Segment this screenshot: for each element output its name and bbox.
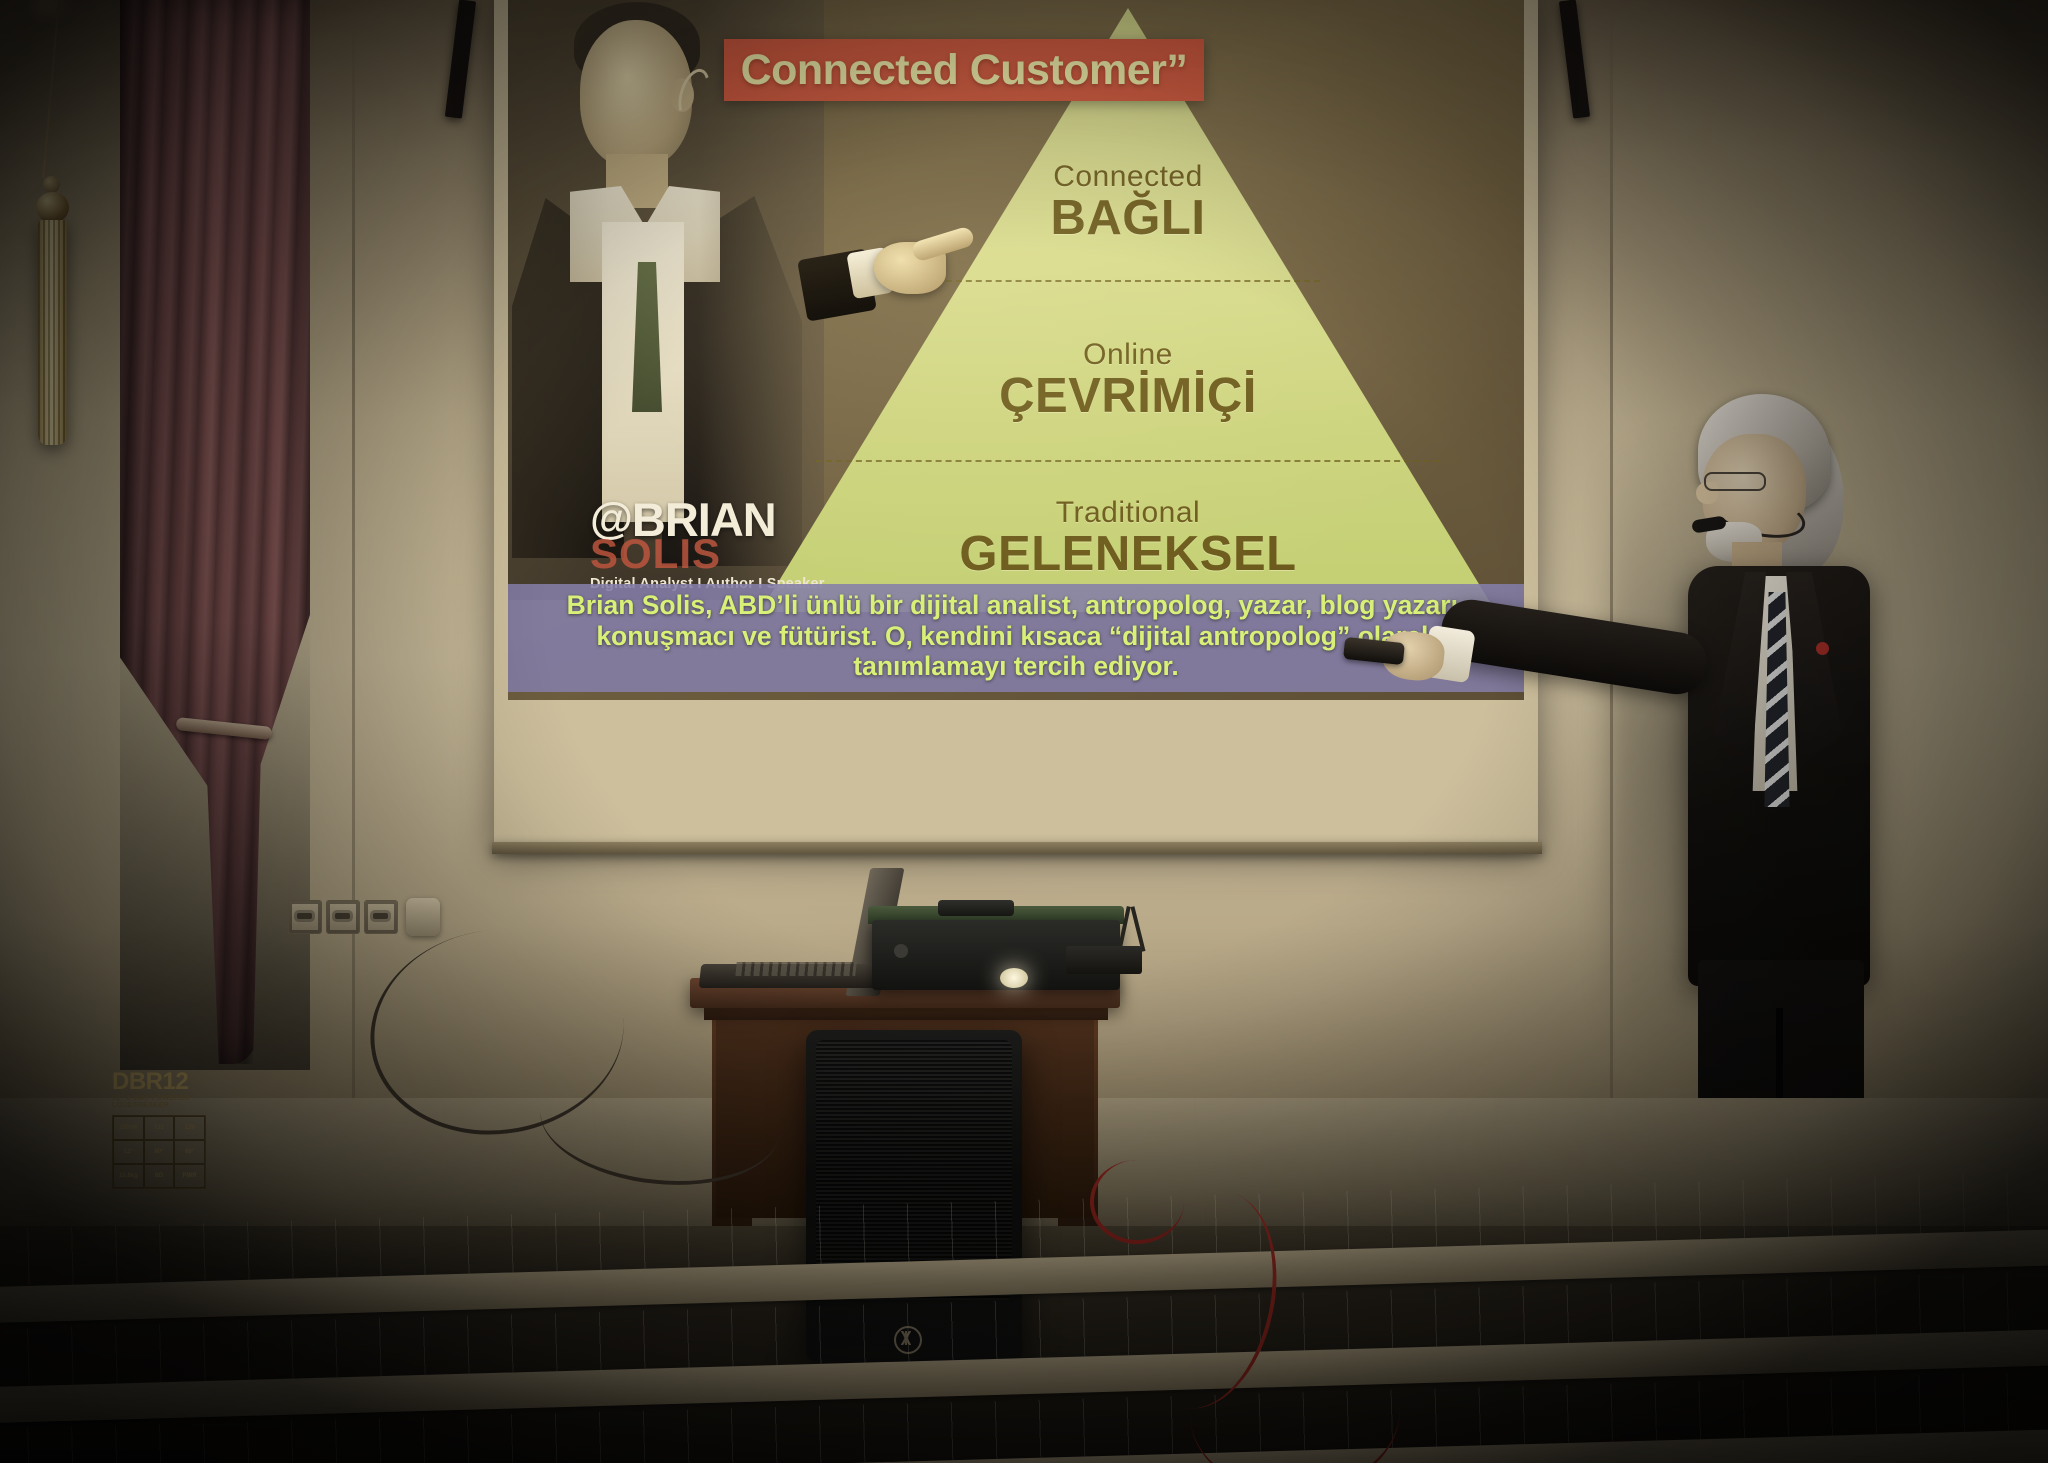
brian-solis-logo: @BRIAN SOLIS Digital Analyst I Author I … xyxy=(590,498,858,592)
tassel-bead-small xyxy=(43,176,60,193)
presentation-room-photo: Connected BAĞLI Online ÇEVRİMİÇİ Traditi… xyxy=(0,0,2048,1463)
gold-tassel xyxy=(38,220,67,445)
spec-cell: 60° xyxy=(174,1140,205,1164)
power-plug[interactable] xyxy=(406,898,440,936)
tier-1-english: Connected xyxy=(760,160,1496,194)
projector-knob[interactable] xyxy=(894,944,908,958)
tier-2-english: Online xyxy=(760,338,1496,372)
spec-cell: 8Ω xyxy=(144,1164,175,1188)
speaker-model-name: DBR12 xyxy=(112,1070,210,1094)
spec-cell: 1000W xyxy=(113,1116,144,1140)
pyramid-tier-online: Online ÇEVRİMİÇİ xyxy=(760,338,1496,424)
socket-1[interactable] xyxy=(288,900,322,934)
tier-3-turkish: GELENEKSEL xyxy=(760,526,1496,582)
projector-lens xyxy=(1000,968,1028,988)
spec-cell: 131 xyxy=(144,1116,175,1140)
speaker-spec-table: 1000W 131 129 12° 90° 60° 15.8kg 8Ω PWR xyxy=(112,1115,206,1189)
spec-cell: 12° xyxy=(113,1140,144,1164)
socket-2[interactable] xyxy=(326,900,360,934)
pyramid-divider-1 xyxy=(936,280,1320,282)
presenter-figure xyxy=(1640,400,1900,1120)
slide-caption-text: Brian Solis, ABD’li ünlü bir dijital ana… xyxy=(562,590,1470,682)
spec-cell: 129 xyxy=(174,1116,205,1140)
slide-caption-bar: Brian Solis, ABD’li ünlü bir dijital ana… xyxy=(508,584,1524,692)
pyramid-tier-traditional: Traditional GELENEKSEL xyxy=(760,496,1496,582)
speaker-label: DBR12 12" 2-WAY POWERED LOUDSPEAKER 1000… xyxy=(112,1070,210,1189)
spec-cell: PWR xyxy=(174,1164,205,1188)
slide-title-banner: Connected Customer” xyxy=(724,39,1204,101)
tassel-bead xyxy=(36,192,69,223)
slide-title-text: Connected Customer” xyxy=(741,46,1188,95)
tier-2-turkish: ÇEVRİMİÇİ xyxy=(760,368,1496,424)
spec-cell: 90° xyxy=(144,1140,175,1164)
pyramid-divider-2 xyxy=(816,460,1440,462)
screen-bottom-bar xyxy=(492,842,1542,854)
photo-pointing-hand xyxy=(866,228,962,298)
logo-solis-text: SOLIS xyxy=(590,535,858,573)
speaker-model-sub: 12" 2-WAY POWERED LOUDSPEAKER xyxy=(112,1095,210,1109)
lapel-pin-icon xyxy=(1816,642,1829,655)
wireless-router[interactable] xyxy=(1066,946,1142,974)
laptop-keyboard[interactable] xyxy=(735,962,856,976)
spec-cell: 15.8kg xyxy=(113,1164,144,1188)
wall-power-sockets[interactable] xyxy=(288,900,406,934)
wall-seam-left xyxy=(352,0,355,1100)
tier-3-english: Traditional xyxy=(760,496,1496,530)
projector-lid xyxy=(938,900,1014,916)
socket-3[interactable] xyxy=(364,900,398,934)
eyeglasses-icon xyxy=(1704,472,1766,491)
